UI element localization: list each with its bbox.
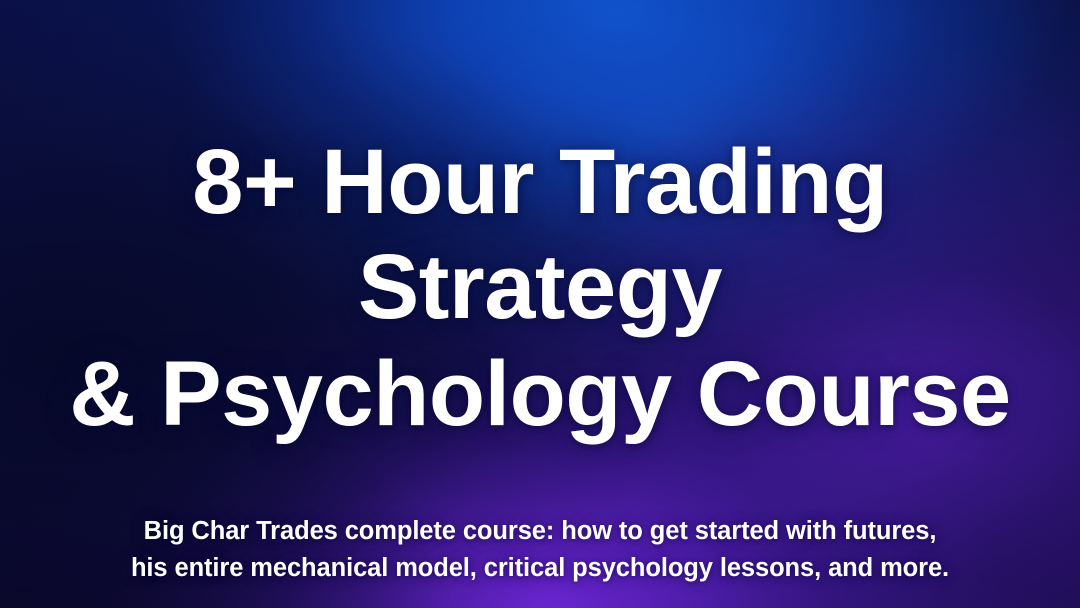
headline-line-2: & Psychology Course <box>35 342 1045 447</box>
headline-line-1: 8+ Hour Trading Strategy <box>35 130 1045 340</box>
subtitle-line-2: his entire mechanical model, critical ps… <box>50 550 1030 587</box>
banner-content: 8+ Hour Trading Strategy & Psychology Co… <box>0 0 1080 608</box>
subtitle-line-1: Big Char Trades complete course: how to … <box>50 513 1030 550</box>
promo-banner: 8+ Hour Trading Strategy & Psychology Co… <box>0 0 1080 608</box>
